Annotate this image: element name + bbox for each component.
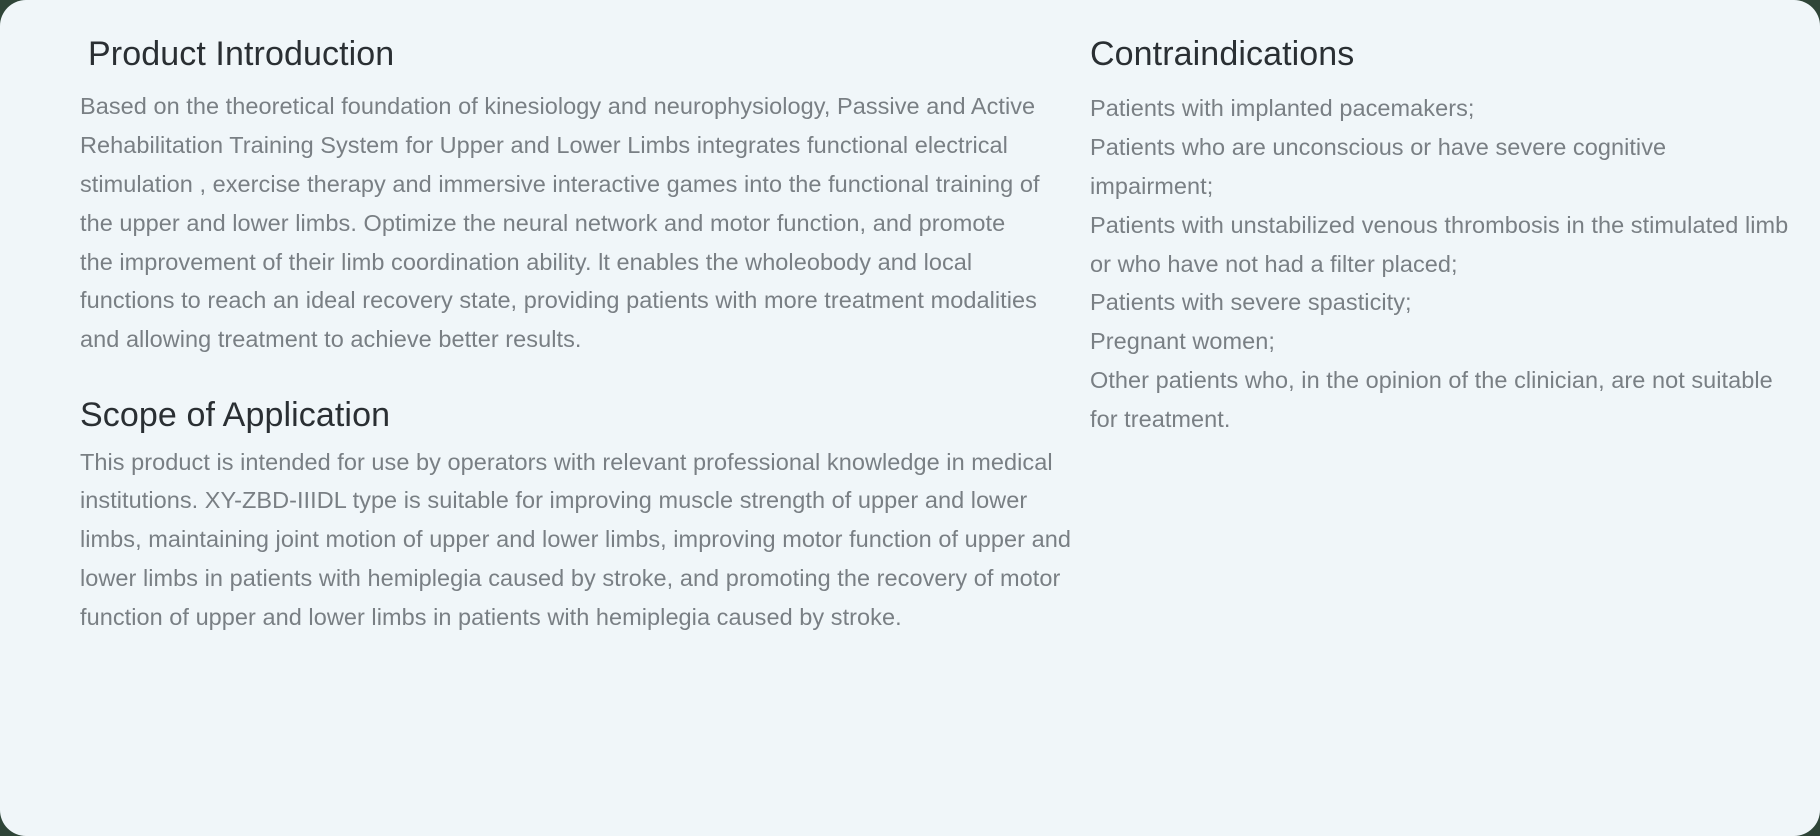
- contraindications-heading: Contraindications: [1090, 34, 1790, 75]
- contraindication-item: Patients with implanted pacemakers;: [1090, 89, 1790, 128]
- contraindication-item: Patients with severe spasticity;: [1090, 283, 1790, 322]
- left-column: Product Introduction Based on the theore…: [80, 34, 1090, 637]
- right-column: Contraindications Patients with implante…: [1090, 34, 1790, 439]
- contraindications-list: Patients with implanted pacemakers;Patie…: [1090, 89, 1790, 438]
- scope-of-application-body: This product is intended for use by oper…: [80, 443, 1080, 637]
- two-column-layout: Product Introduction Based on the theore…: [0, 0, 1820, 836]
- content-panel: Product Introduction Based on the theore…: [0, 0, 1820, 836]
- scope-of-application-section: Scope of Application This product is int…: [80, 395, 1070, 636]
- scope-of-application-heading: Scope of Application: [80, 395, 1070, 436]
- contraindication-item: Pregnant women;: [1090, 322, 1790, 361]
- contraindication-item: Other patients who, in the opinion of th…: [1090, 361, 1790, 439]
- product-introduction-heading: Product Introduction: [80, 34, 1070, 75]
- contraindication-item: Patients who are unconscious or have sev…: [1090, 128, 1790, 206]
- contraindication-item: Patients with unstabilized venous thromb…: [1090, 206, 1790, 284]
- contraindications-section: Contraindications Patients with implante…: [1090, 34, 1790, 439]
- product-introduction-section: Product Introduction Based on the theore…: [80, 34, 1070, 359]
- product-introduction-body: Based on the theoretical foundation of k…: [80, 87, 1040, 359]
